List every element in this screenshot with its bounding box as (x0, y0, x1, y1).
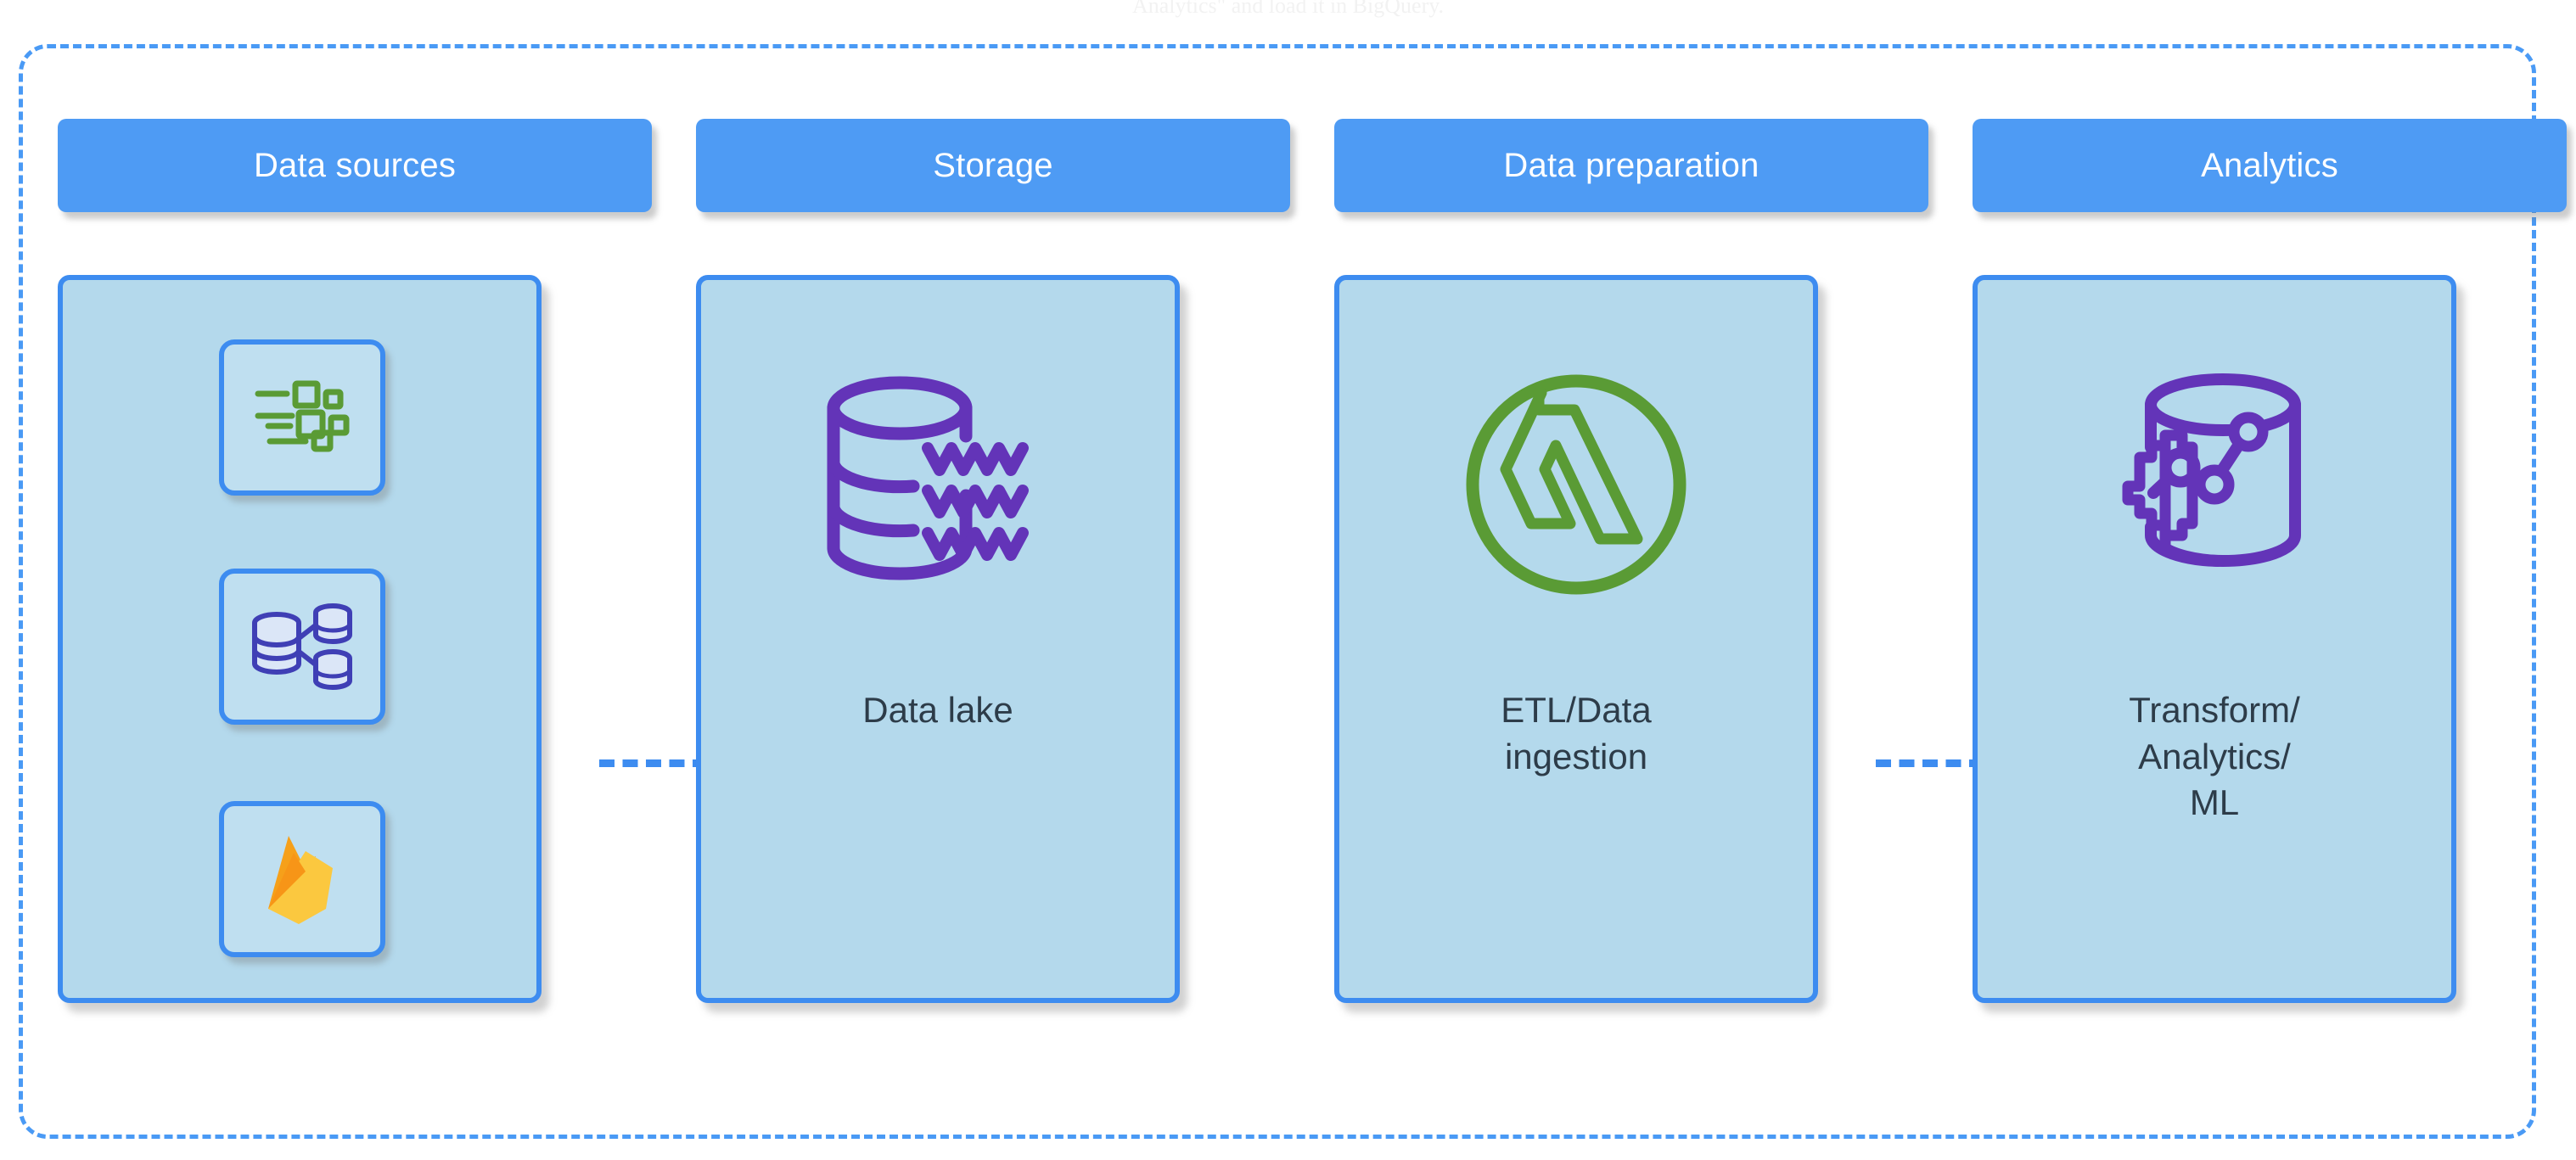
column-card-analytics[interactable]: Transform/ Analytics/ ML (1973, 275, 2456, 1003)
firebase-logo-icon (255, 827, 350, 932)
data-lake-cylinder-waves-icon (798, 361, 1078, 608)
pipeline-column-data-preparation: Data preparation ETL/Data ingestion (1334, 119, 1928, 1061)
card-label-data-lake: Data lake (701, 687, 1175, 734)
top-clipped-caption: Analytics" and load it in BigQuery. (0, 0, 2576, 19)
pipeline-columns: Data sources (58, 119, 2553, 1061)
column-header-storage[interactable]: Storage (696, 119, 1290, 212)
data-source-tile-stream[interactable] (219, 339, 385, 496)
column-header-analytics[interactable]: Analytics (1973, 119, 2567, 212)
column-card-data-preparation[interactable]: ETL/Data ingestion (1334, 275, 1818, 1003)
column-header-data-sources[interactable]: Data sources (58, 119, 652, 212)
data-source-icon-stack (63, 280, 536, 998)
data-stream-icon (251, 373, 353, 462)
data-source-tile-database[interactable] (219, 569, 385, 725)
pipeline-column-analytics: Analytics (1973, 119, 2567, 1061)
data-preparation-card-body: ETL/Data ingestion (1339, 280, 1813, 998)
ml-analytics-cylinder-brain-icon (2074, 361, 2354, 608)
pipeline-column-storage: Storage (696, 119, 1290, 1061)
card-label-etl-data-ingestion: ETL/Data ingestion (1339, 687, 1813, 780)
column-header-data-preparation[interactable]: Data preparation (1334, 119, 1928, 212)
analytics-card-body: Transform/ Analytics/ ML (1978, 280, 2451, 998)
card-label-transform-analytics-ml: Transform/ Analytics/ ML (1978, 687, 2451, 827)
connector-dashed-line (599, 759, 708, 767)
database-replication-icon (250, 599, 355, 695)
column-card-storage[interactable]: Data lake (696, 275, 1180, 1003)
storage-card-body: Data lake (701, 280, 1175, 998)
data-source-tile-firebase[interactable] (219, 801, 385, 957)
column-card-data-sources[interactable] (58, 275, 542, 1003)
aws-lambda-icon (1436, 361, 1716, 608)
pipeline-column-data-sources: Data sources (58, 119, 652, 1061)
